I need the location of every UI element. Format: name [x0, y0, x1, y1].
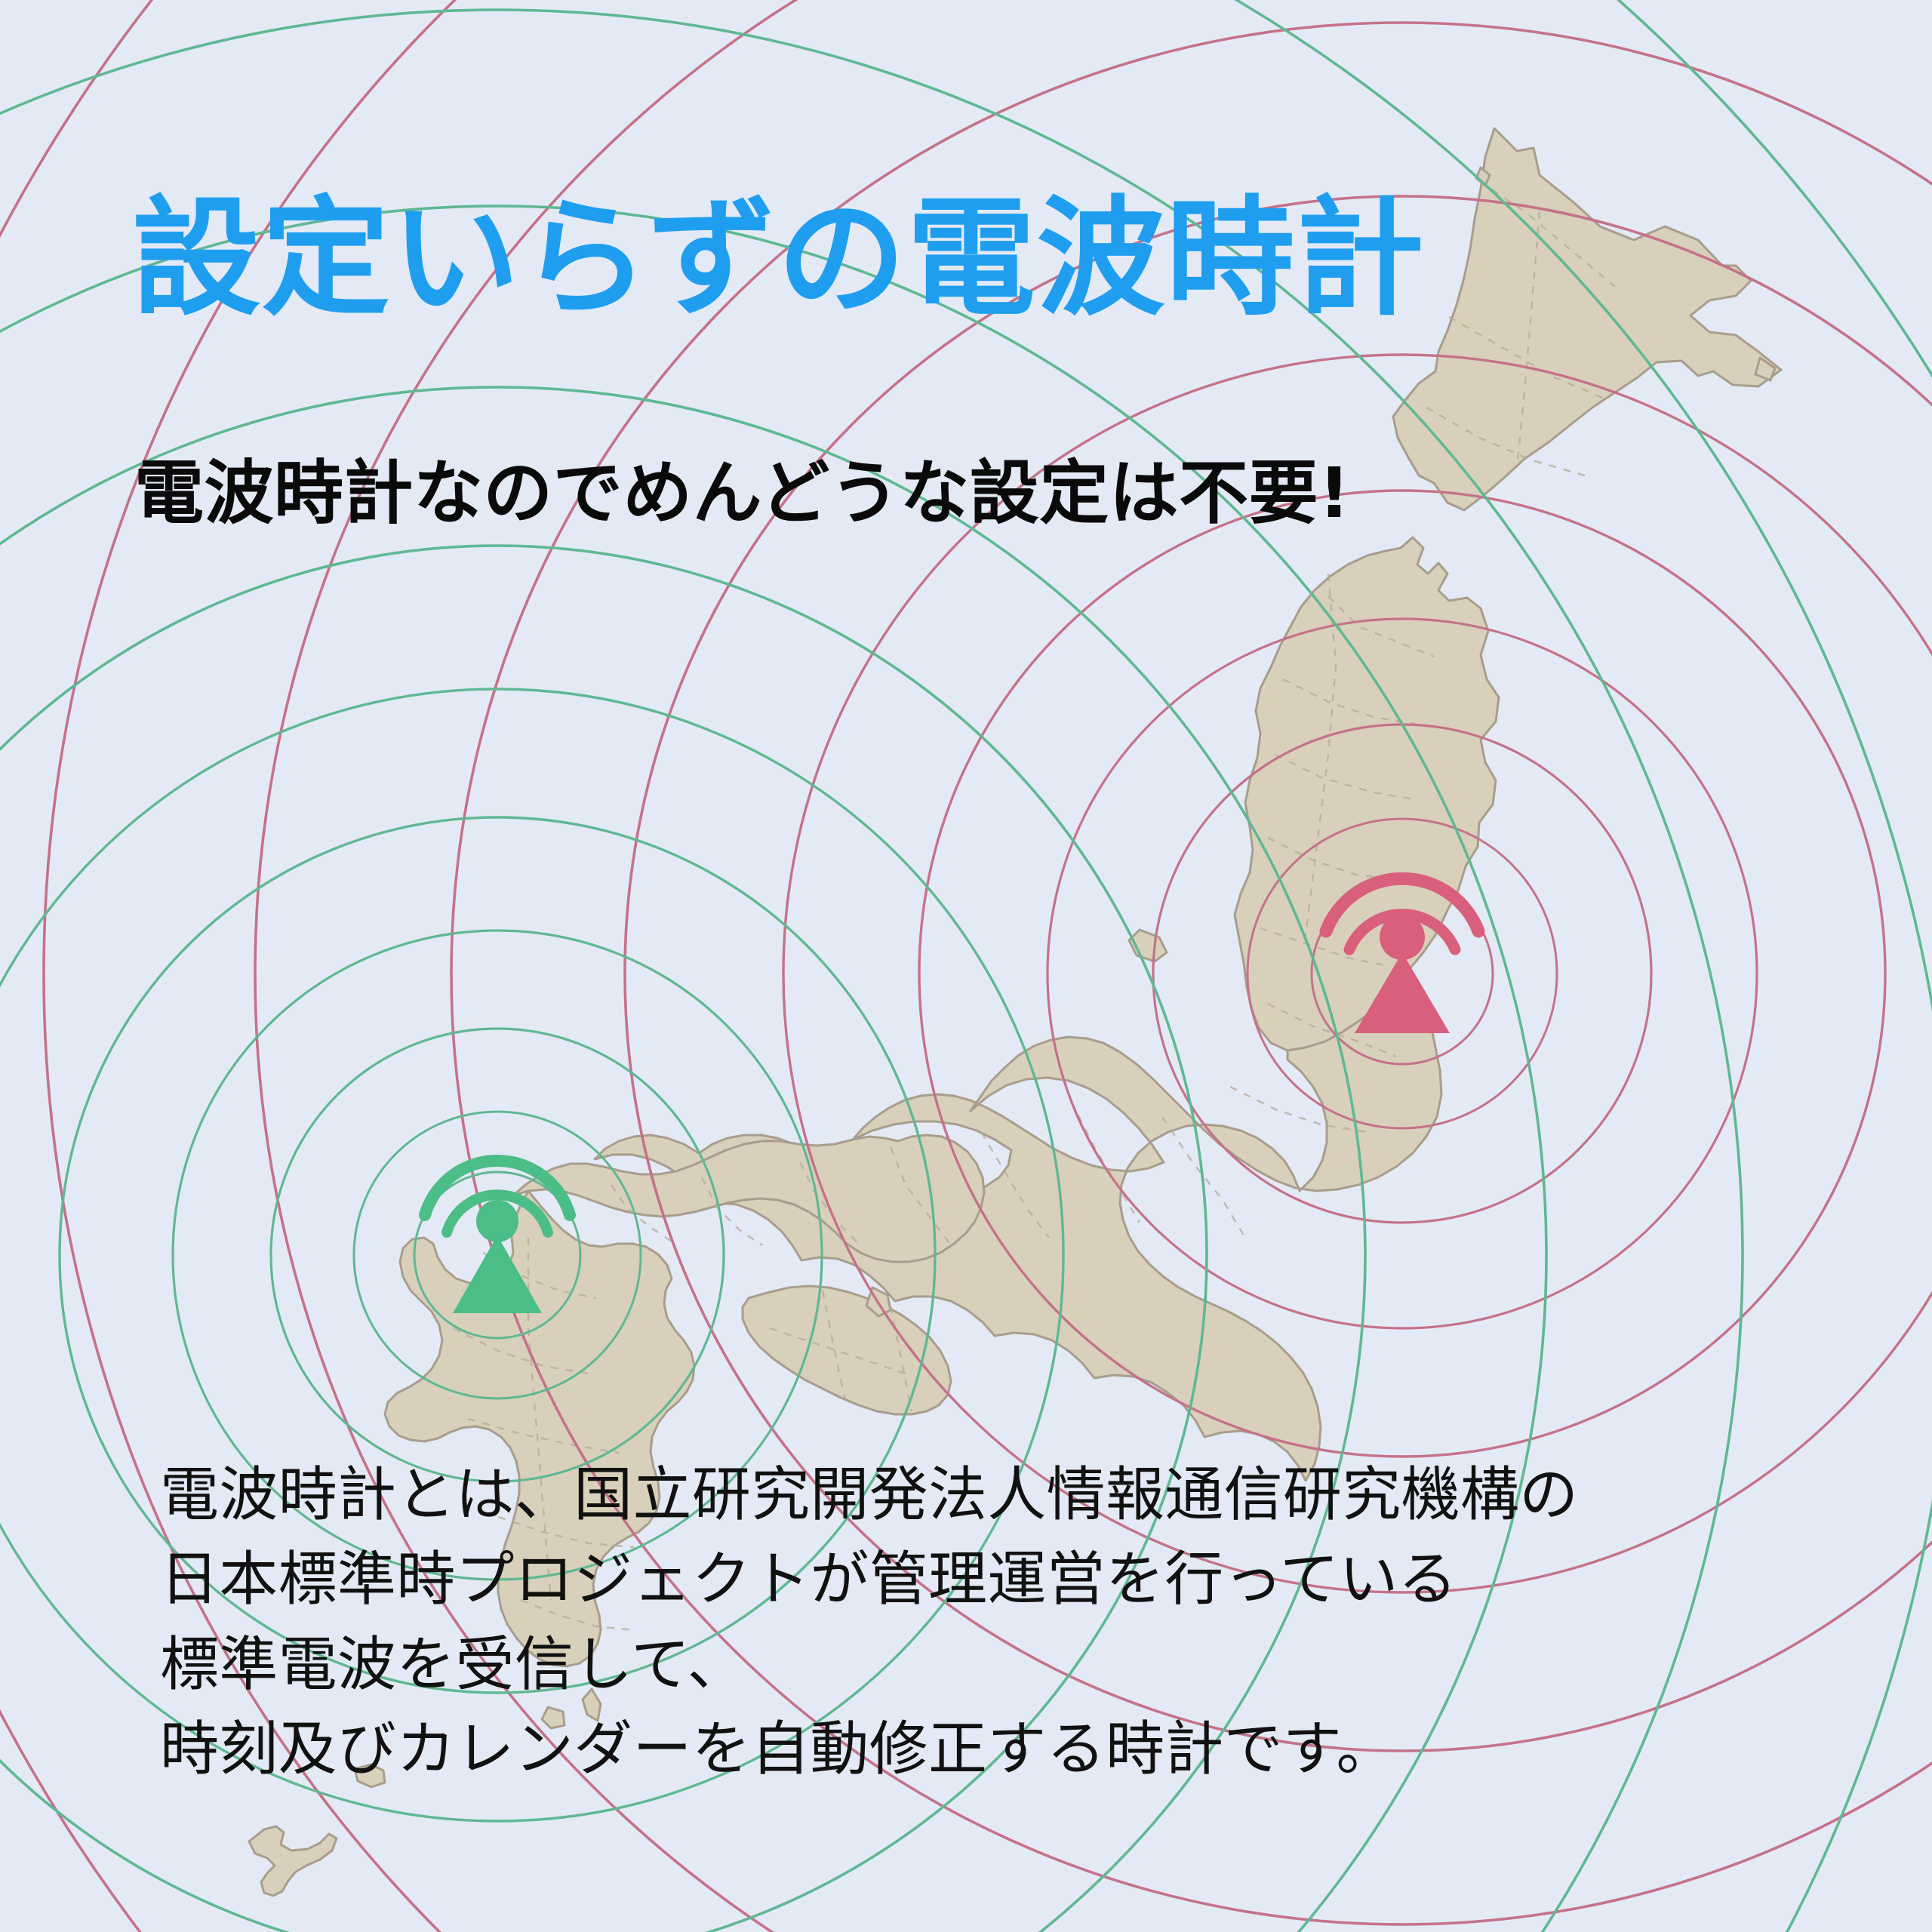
description-block: 電波時計とは、国立研究開発法人情報通信研究機構の 日本標準時プロジェクトが管理運… [160, 1453, 1579, 1792]
description-line-4: 時刻及びカレンダーを自動修正する時計です。 [160, 1707, 1579, 1792]
description-line-3: 標準電波を受信して、 [160, 1623, 1579, 1707]
description-line-1: 電波時計とは、国立研究開発法人情報通信研究機構の [160, 1453, 1579, 1537]
poster-canvas: 設定いらずの電波時計 電波時計なのでめんどうな設定は不要! 電波時計とは、国立研… [0, 0, 1932, 1932]
description-line-2: 日本標準時プロジェクトが管理運営を行っている [160, 1537, 1579, 1622]
page-title: 設定いらずの電波時計 [132, 195, 1426, 323]
subtitle: 電波時計なのでめんどうな設定は不要! [134, 459, 1350, 528]
